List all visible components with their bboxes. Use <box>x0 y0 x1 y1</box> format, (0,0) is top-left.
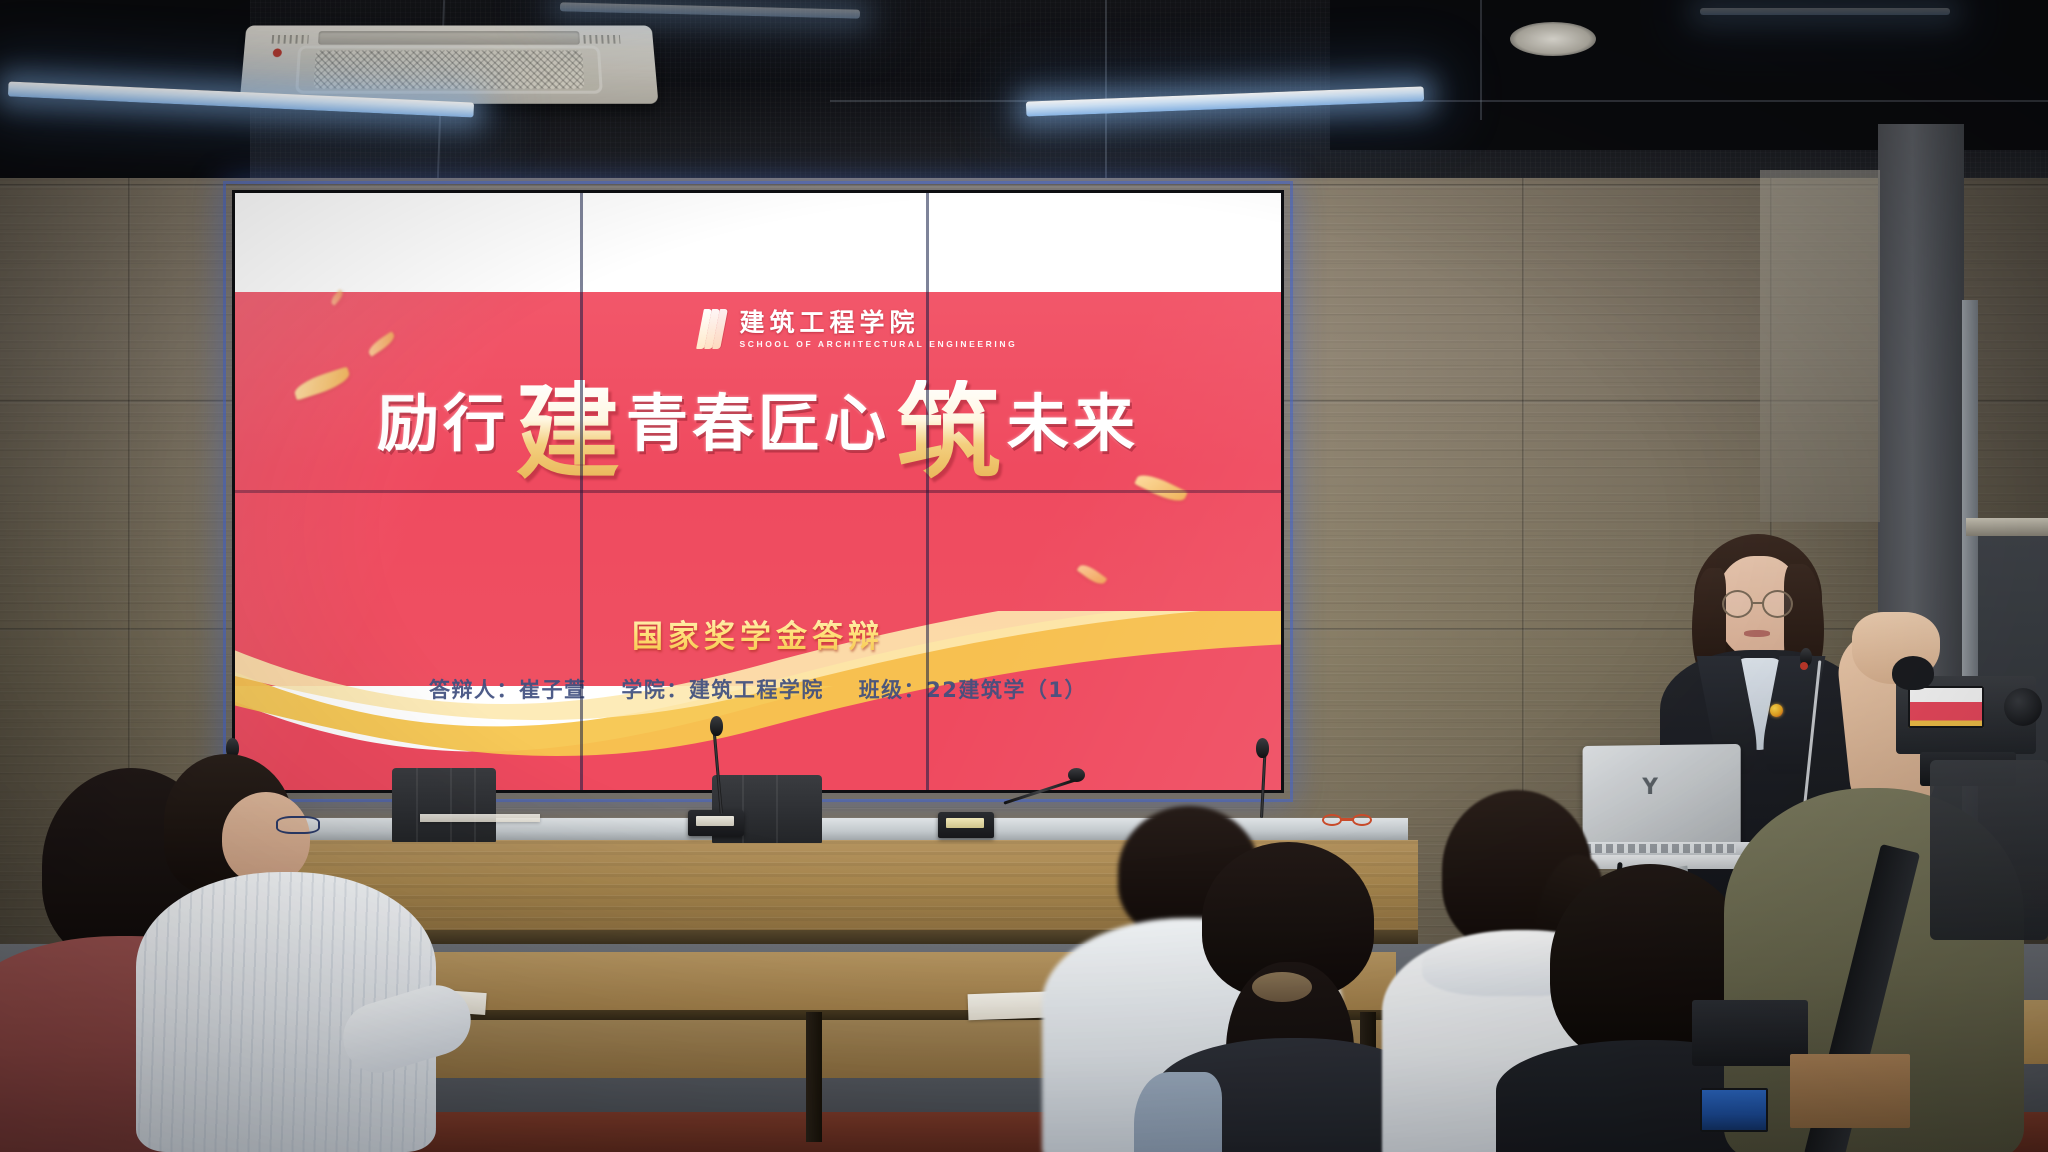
school-logo: 建筑工程学院 SCHOOL OF ARCHITECTURAL ENGINEERI… <box>700 309 1017 349</box>
scene-root: 建筑工程学院 SCHOOL OF ARCHITECTURAL ENGINEERI… <box>0 0 2048 1152</box>
bench-leg-center <box>806 1012 822 1142</box>
video-wall-screen: 建筑工程学院 SCHOOL OF ARCHITECTURAL ENGINEERI… <box>235 193 1281 790</box>
ceiling <box>0 0 2048 178</box>
ceiling-seam-h <box>830 100 2048 102</box>
slide-headline: 励行 建 青春匠心 筑 未来 <box>235 372 1281 476</box>
mic-label-right <box>946 818 984 828</box>
video-wall-bezel-horizontal <box>235 490 1281 493</box>
slide-subtitle: 国家奖学金答辩 <box>235 611 1281 656</box>
headline-part-2: 建 <box>516 380 620 484</box>
camera-shotgun-mic <box>1892 656 1934 690</box>
headline-part-1: 励行 <box>377 393 509 455</box>
presenter-glasses-left-lens <box>1722 590 1753 618</box>
fluorescent-tube-far-right <box>1700 8 1950 15</box>
camera-flip-screen <box>1908 686 1984 728</box>
school-logo-text: 建筑工程学院 SCHOOL OF ARCHITECTURAL ENGINEERI… <box>739 310 1017 349</box>
cardboard-box <box>1790 1054 1910 1128</box>
mic-head-center <box>710 716 723 736</box>
ceiling-seam-2 <box>1105 0 1107 178</box>
door-header-trim <box>1966 518 2048 536</box>
headline-part-5: 未来 <box>1007 393 1139 455</box>
headline-part-4: 筑 <box>896 380 1000 484</box>
mic-head-far-right <box>1256 738 1269 758</box>
open-book-logo-icon <box>700 309 730 349</box>
ac-air-vent <box>318 32 579 45</box>
footer-college: 学院：建筑工程学院 <box>621 678 824 702</box>
ceiling-downlight <box>1510 22 1596 56</box>
ceiling-seam-3 <box>1480 0 1482 120</box>
camera-lens <box>2004 688 2042 726</box>
headline-part-3: 青春匠心 <box>626 393 890 455</box>
audience-member-white-striped-shirt <box>126 754 456 1152</box>
secondary-camera-rig <box>1930 760 2048 940</box>
ac-inner-frame <box>295 45 604 94</box>
striped-member-head <box>222 792 310 884</box>
ac-side-slots-left <box>271 35 308 44</box>
chair-fold-5 <box>776 775 778 843</box>
mic-label-center <box>696 816 734 826</box>
slide-footer-line: 答辩人：崔子萱 学院：建筑工程学院 班级：22建筑学（1） <box>235 674 1281 704</box>
ac-side-slots-right <box>583 35 620 44</box>
mic-head-right <box>1068 768 1085 782</box>
footer-class: 班级：22建筑学（1） <box>859 678 1087 702</box>
ac-grille <box>313 50 584 89</box>
chair-fold-3 <box>474 768 476 842</box>
presenter-glasses-right-lens <box>1762 590 1793 618</box>
led-video-wall[interactable]: 建筑工程学院 SCHOOL OF ARCHITECTURAL ENGINEERI… <box>232 190 1284 793</box>
school-name-chinese: 建筑工程学院 <box>739 310 1017 335</box>
footer-presenter: 答辩人：崔子萱 <box>429 678 587 702</box>
air-conditioner-cassette <box>240 26 659 104</box>
presenter-glasses-bridge <box>1752 602 1764 604</box>
wall-right-light-panel <box>1760 170 1880 522</box>
ponytail-center-shoulder <box>1134 1072 1222 1152</box>
school-name-english: SCHOOL OF ARCHITECTURAL ENGINEERING <box>739 339 1017 349</box>
ponytail-hair-tie <box>1252 972 1312 1002</box>
secondary-camera-screen <box>1700 1088 1768 1132</box>
ac-indicator-light <box>272 48 282 57</box>
striped-member-glasses-icon <box>276 816 320 834</box>
